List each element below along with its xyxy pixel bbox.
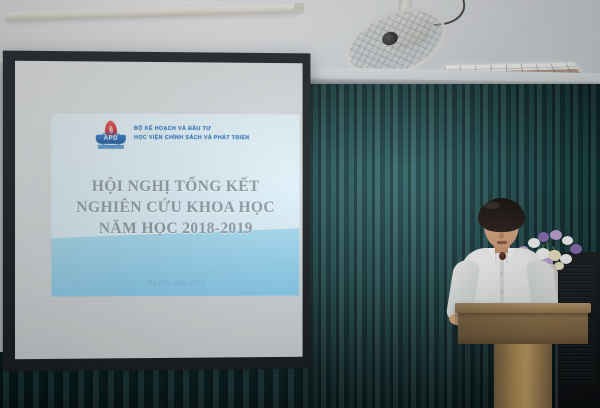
podium-column: [494, 343, 552, 408]
shirt-collar-left: [486, 248, 495, 263]
shirt-button: [500, 290, 503, 293]
podium-body: [458, 312, 588, 338]
flower-petal: [570, 244, 582, 254]
shirt-collar-right: [508, 248, 517, 263]
hair: [478, 198, 525, 232]
slide-projection-blur: [51, 114, 299, 297]
mouth: [497, 241, 507, 244]
presentation-slide: APD BỘ KẾ HOẠCH VÀ ĐẦU TƯ HỌC VIỆN CHÍNH…: [51, 114, 299, 297]
shirt-button: [500, 272, 503, 275]
photo-scene: APD BỘ KẾ HOẠCH VÀ ĐẦU TƯ HỌC VIỆN CHÍNH…: [0, 0, 600, 408]
nose: [499, 232, 504, 239]
microphone-icon: [499, 252, 506, 260]
podium-top-surface: [455, 303, 591, 313]
